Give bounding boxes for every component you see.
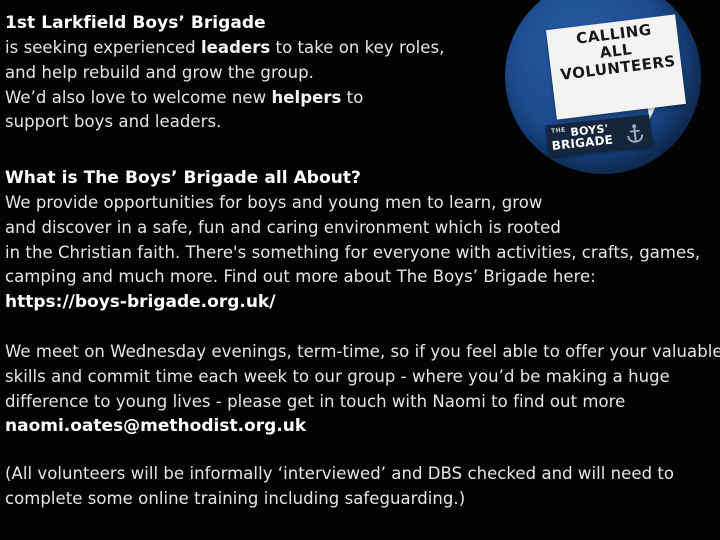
meeting-info-block: We meet on Wednesday evenings, term-time…: [5, 340, 720, 439]
meet-line-1: We meet on Wednesday evenings, term-time…: [5, 340, 720, 365]
volunteer-note-block: (All volunteers will be informally ‘inte…: [5, 462, 674, 512]
intro-line-1: is seeking experienced leaders to take o…: [5, 36, 444, 61]
intro-line-1-post: to take on key roles,: [270, 38, 444, 57]
meet-line-3: difference to young lives - please get i…: [5, 390, 720, 415]
about-line-2: and discover in a safe, fun and caring e…: [5, 216, 700, 241]
anchor-emblem-icon: [622, 121, 648, 147]
note-line-1: (All volunteers will be informally ‘inte…: [5, 462, 674, 487]
intro-line-4-pre: support boys and leaders.: [5, 112, 221, 131]
about-heading: What is The Boys’ Brigade all About?: [5, 166, 700, 191]
intro-line-3-pre: We’d also love to welcome new: [5, 88, 271, 107]
intro-line-1-pre: is seeking experienced: [5, 38, 201, 57]
intro-line-3-bold: helpers: [271, 88, 341, 107]
note-line-2: complete some online training including …: [5, 487, 674, 512]
volunteer-recruitment-poster: CALLING ALL VOLUNTEERS THE BOYS' BRIGADE…: [0, 0, 720, 540]
about-block: What is The Boys’ Brigade all About? We …: [5, 166, 700, 315]
org-title: 1st Larkfield Boys’ Brigade: [5, 11, 444, 36]
contact-email-link[interactable]: naomi.oates@methodist.org.uk: [5, 414, 720, 439]
about-line-3: in the Christian faith. There's somethin…: [5, 241, 700, 266]
badge-the-label: THE: [551, 126, 566, 134]
meet-line-2: skills and commit time each week to our …: [5, 365, 720, 390]
intro-line-1-bold: leaders: [201, 38, 270, 57]
intro-line-2: and help rebuild and grow the group.: [5, 61, 444, 86]
intro-line-3-post: to: [341, 88, 363, 107]
intro-block: 1st Larkfield Boys’ Brigade is seeking e…: [5, 11, 444, 135]
about-line-1: We provide opportunities for boys and yo…: [5, 191, 700, 216]
intro-line-2-pre: and help rebuild and grow the group.: [5, 63, 314, 82]
about-line-4: camping and much more. Find out more abo…: [5, 265, 700, 290]
boys-brigade-website-link[interactable]: https://boys-brigade.org.uk/: [5, 290, 700, 315]
intro-line-4: support boys and leaders.: [5, 110, 444, 135]
badge-brigade-label: BRIGADE: [551, 133, 614, 153]
intro-line-3: We’d also love to welcome new helpers to: [5, 86, 444, 111]
